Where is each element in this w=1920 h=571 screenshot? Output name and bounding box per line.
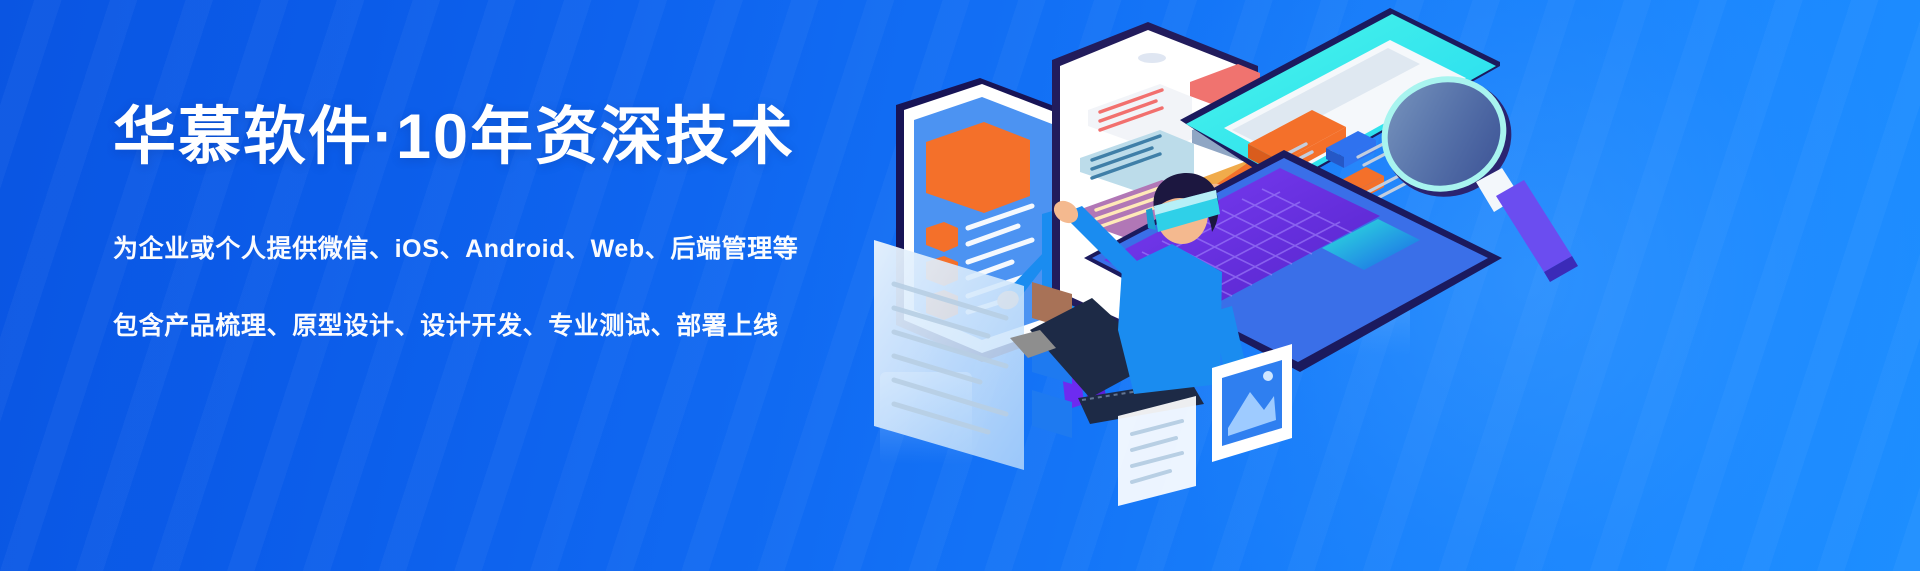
banner-subtitle-line-1: 为企业或个人提供微信、iOS、Android、Web、后端管理等 <box>113 229 798 265</box>
banner-subtitle-line-2: 包含产品梳理、原型设计、设计开发、专业测试、部署上线 <box>113 306 798 342</box>
banner-copy: 华慕软件·10年资深技术 为企业或个人提供微信、iOS、Android、Web、… <box>113 106 798 342</box>
hero-banner: 华慕软件·10年资深技术 为企业或个人提供微信、iOS、Android、Web、… <box>0 0 1920 571</box>
page-title: 华慕软件·10年资深技术 <box>113 106 798 169</box>
hero-illustration <box>860 0 1920 571</box>
